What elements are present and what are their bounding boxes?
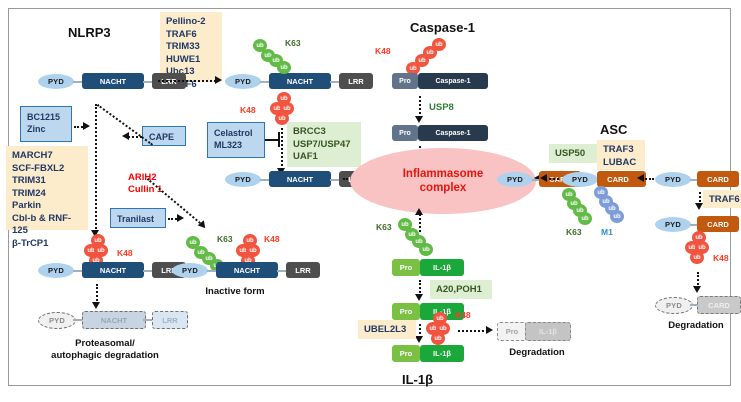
caspase1-domain: Caspase-1 <box>418 73 488 89</box>
label-k48: K48 <box>455 310 471 320</box>
label-k48: K48 <box>240 105 256 115</box>
box-a20-poh1: A20,POH1 <box>430 280 492 299</box>
card-domain: CARD <box>697 171 739 187</box>
box-e3-ligases-nlrp3: Pellino-2 TRAF6 TRIM33 HUWE1 Ubc13 TRAF6 <box>160 12 222 82</box>
card-domain: CARD <box>597 171 639 187</box>
box-usp50-label: USP50 <box>555 148 591 161</box>
box-dub-item-1: USP7/USP47 <box>293 139 355 152</box>
box-traf6: TRAF6 <box>703 190 741 208</box>
header-il1b: IL-1β <box>402 372 433 387</box>
inflammasome-label-1: Inflammasome <box>403 167 484 181</box>
box-celastrol-ml323: Celastrol ML323 <box>207 122 265 158</box>
box-e3-item-0: Pellino-2 <box>166 16 216 29</box>
nacht-domain-ghost: NACHT <box>82 311 146 329</box>
header-nlrp3: NLRP3 <box>68 25 111 40</box>
arrow-head <box>177 214 184 222</box>
inflammasome-label-2: complex <box>403 181 484 195</box>
arrow-shaft <box>95 104 97 232</box>
label-k48: K48 <box>375 46 391 56</box>
arrow-head <box>540 174 547 182</box>
ub-unit: ub <box>431 332 445 345</box>
ub-chain-k48-asc: ub ub ub ub <box>681 231 715 269</box>
caption-line-1: Proteasomal/ <box>25 338 185 350</box>
arrow-shaft <box>458 330 488 332</box>
box-tranilast: Tranilast <box>110 208 166 228</box>
pyd-domain: PYD <box>225 172 261 187</box>
pyd-domain: PYD <box>38 74 74 89</box>
box-bc1215-item-0: BC1215 <box>27 111 65 123</box>
box-bc1215-zinc: BC1215 Zinc <box>20 106 72 142</box>
header-asc: ASC <box>600 122 627 137</box>
pyd-domain: PYD <box>562 172 598 187</box>
box-dubs-nlrp3: BRCC3 USP7/USP47 UAF1 <box>287 122 361 167</box>
ub-unit: ub <box>277 61 291 74</box>
label-k48: K48 <box>117 248 133 258</box>
figure-canvas: NLRP3 Caspase-1 ASC IL-1β Pellino-2 TRAF… <box>0 0 741 402</box>
pyd-domain-ghost: PYD <box>38 312 76 329</box>
box-traf3-item-1: LUBAC <box>603 157 639 170</box>
caption-degradation-il1b: Degradation <box>487 347 587 359</box>
box-traf3-item-0: TRAF3 <box>603 144 639 157</box>
label-k48: K48 <box>713 253 729 263</box>
box-e3-item-2: TRIM33 <box>166 41 216 54</box>
pyd-domain: PYD <box>172 263 208 278</box>
pyd-domain: PYD <box>225 74 261 89</box>
ub-chain-m1-asc: ub ub ub ub <box>594 186 632 224</box>
box-ubel2l3-label: UBEL2L3 <box>364 324 410 337</box>
ub-chain-k63-il1b: ub ub ub ub <box>398 218 444 258</box>
card-domain: CARD <box>697 216 739 232</box>
box-march7-item-4: Cbl-b & RNF- <box>12 213 82 226</box>
box-march7-item-0: MARCH7 <box>12 150 82 163</box>
arrow-head <box>486 326 493 334</box>
arrow-head <box>695 203 703 210</box>
box-celastrol-item-1: ML323 <box>214 139 258 151</box>
box-dub-item-2: UAF1 <box>293 151 355 164</box>
il1b-domain: IL-1β <box>420 259 464 276</box>
box-ubel2l3: UBEL2L3 <box>358 320 416 339</box>
lrr-domain-ghost: LRR <box>152 311 188 329</box>
ub-chain-k48-caspase: ub ub ub ub <box>404 38 450 78</box>
il1b-domain-ghost: IL-1β <box>525 322 571 341</box>
nacht-domain: NACHT <box>82 73 144 89</box>
pro-domain: Pro <box>392 303 420 320</box>
inhibition-line <box>265 139 279 141</box>
caption-line-2: autophagic degradation <box>25 350 185 362</box>
box-march7-item-2: TRIM31 TRIM24 <box>12 175 82 200</box>
nacht-domain: NACHT <box>269 73 331 89</box>
caption-degradation-asc: Degradation <box>646 320 741 332</box>
lrr-domain: LRR <box>286 262 320 278</box>
arrow-shaft <box>281 128 283 170</box>
pyd-domain: PYD <box>497 172 533 187</box>
ub-unit: ub <box>419 243 433 256</box>
nacht-domain: NACHT <box>82 262 144 278</box>
label-k63: K63 <box>566 227 582 237</box>
ub-unit: ub <box>610 210 624 223</box>
box-tranilast-label: Tranilast <box>117 213 159 225</box>
nacht-domain: NACHT <box>216 262 278 278</box>
box-e3-ligases-k48: MARCH7 SCF-FBXL2 TRIM31 TRIM24 Parkin Cb… <box>6 146 88 230</box>
il1b-domain: IL-1β <box>420 345 464 362</box>
box-traf3-lubac: TRAF3 LUBAC <box>597 140 645 170</box>
pyd-domain: PYD <box>38 263 74 278</box>
label-k63: K63 <box>217 234 233 244</box>
pro-domain-ghost: Pro <box>497 322 527 341</box>
arrow-head <box>215 76 222 84</box>
label-k63: K63 <box>376 222 392 232</box>
caption-inactive-form: Inactive form <box>180 286 290 298</box>
box-traf6-label: TRAF6 <box>709 194 737 207</box>
pro-domain: Pro <box>392 125 418 141</box>
arrow-head <box>637 174 644 182</box>
caspase1-domain: Caspase-1 <box>418 125 488 141</box>
arrow-shaft <box>419 96 421 118</box>
box-e3-item-3: HUWE1 <box>166 54 216 67</box>
label-arih2: ARIH2 <box>128 172 162 184</box>
inhibition-bar <box>278 132 280 147</box>
box-march7-item-3: Parkin <box>12 200 82 213</box>
arrow-shaft <box>545 178 559 180</box>
pro-domain: Pro <box>392 259 420 276</box>
box-dub-item-0: BRCC3 <box>293 126 355 139</box>
pyd-domain: PYD <box>655 172 691 187</box>
box-march7-item-5: 125 <box>12 225 82 238</box>
label-usp8: USP8 <box>429 102 454 113</box>
nacht-domain: NACHT <box>269 171 331 187</box>
arrow-head <box>122 132 129 140</box>
arrow-shaft <box>96 284 98 304</box>
arrow-head <box>83 122 90 130</box>
box-bc1215-item-1: Zinc <box>27 123 65 135</box>
lrr-domain: LRR <box>339 73 373 89</box>
arrow-head <box>415 208 423 215</box>
box-march7-item-6: β-TrCP1 <box>12 238 82 251</box>
caption-proteasomal-degradation: Proteasomal/ autophagic degradation <box>25 338 185 362</box>
arrow-head <box>415 116 423 123</box>
arrow-head <box>693 286 701 293</box>
ub-unit: ub <box>578 212 592 225</box>
box-a20-poh1-label: A20,POH1 <box>436 284 486 297</box>
header-caspase1: Caspase-1 <box>410 20 475 35</box>
arrow-head <box>92 302 100 309</box>
pro-domain: Pro <box>392 345 420 362</box>
box-cape-label: CAPE <box>149 131 179 143</box>
pyd-domain-ghost: PYD <box>655 297 693 314</box>
label-k48: K48 <box>264 234 280 244</box>
box-e3-item-1: TRAF6 <box>166 29 216 42</box>
label-k63: K63 <box>285 38 301 48</box>
ub-unit: ub <box>690 251 704 264</box>
box-march7-item-1: SCF-FBXL2 <box>12 163 82 176</box>
box-usp50: USP50 <box>549 144 597 163</box>
label-arih2-cullin1: ARIH2 Cullin 1 <box>128 172 162 196</box>
arrow-head <box>415 294 423 301</box>
label-m1: M1 <box>601 227 613 237</box>
arrow-shaft <box>158 80 216 82</box>
pyd-domain: PYD <box>655 217 691 232</box>
card-domain-ghost: CARD <box>697 296 741 314</box>
box-celastrol-item-0: Celastrol <box>214 127 258 139</box>
pro-domain: Pro <box>392 73 418 89</box>
